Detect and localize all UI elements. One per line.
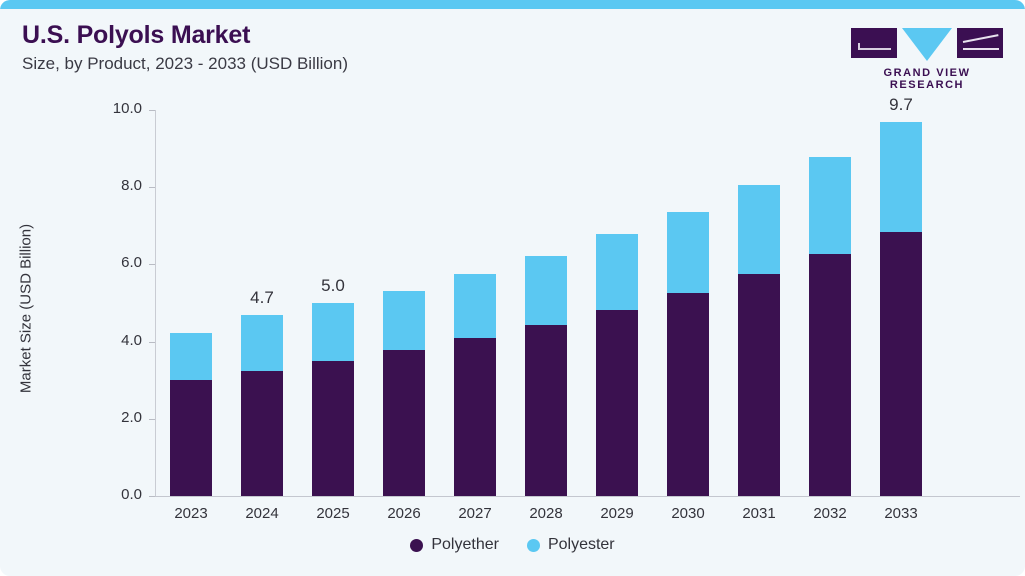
x-tick-label: 2023 <box>151 505 231 522</box>
bar-segment-polyether[interactable] <box>241 371 283 496</box>
chart-legend: PolyetherPolyester <box>0 536 1025 554</box>
x-tick-label: 2026 <box>364 505 444 522</box>
x-tick-label: 2032 <box>790 505 870 522</box>
y-axis-title: Market Size (USD Billion) <box>18 179 35 439</box>
bar-segment-polyester[interactable] <box>383 291 425 350</box>
legend-item-polyester[interactable]: Polyester <box>527 536 615 554</box>
y-tick-label: 8.0 <box>96 177 142 194</box>
bar-segment-polyether[interactable] <box>312 361 354 496</box>
bar-segment-polyester[interactable] <box>738 185 780 274</box>
bar-segment-polyester[interactable] <box>809 157 851 254</box>
bar-segment-polyester[interactable] <box>525 256 567 325</box>
bar-group[interactable] <box>170 333 212 496</box>
y-tick-label: 10.0 <box>96 100 142 117</box>
plot-area: Market Size (USD Billion) 0.02.04.06.08.… <box>0 0 1025 576</box>
bar-segment-polyether[interactable] <box>454 338 496 496</box>
x-tick-label: 2027 <box>435 505 515 522</box>
legend-swatch-icon <box>410 539 423 552</box>
x-tick-label: 2025 <box>293 505 373 522</box>
bar-segment-polyether[interactable] <box>170 380 212 496</box>
bar-value-label: 5.0 <box>293 276 373 296</box>
bar-segment-polyester[interactable] <box>596 234 638 310</box>
chart-card: U.S. Polyols Market Size, by Product, 20… <box>0 0 1025 576</box>
bar-value-label: 9.7 <box>861 95 941 115</box>
bar-value-label: 4.7 <box>222 288 302 308</box>
bar-group[interactable] <box>738 185 780 496</box>
bar-segment-polyester[interactable] <box>667 212 709 293</box>
x-tick-label: 2029 <box>577 505 657 522</box>
bar-segment-polyester[interactable] <box>880 122 922 232</box>
bar-group[interactable] <box>880 122 922 496</box>
bar-segment-polyether[interactable] <box>525 325 567 496</box>
legend-swatch-icon <box>527 539 540 552</box>
legend-item-polyether[interactable]: Polyether <box>410 536 499 554</box>
y-axis-line <box>155 110 156 496</box>
bar-segment-polyether[interactable] <box>383 350 425 496</box>
bar-segment-polyester[interactable] <box>241 315 283 371</box>
y-tick-label: 0.0 <box>96 486 142 503</box>
bar-segment-polyether[interactable] <box>667 293 709 496</box>
x-axis-line <box>155 496 1020 497</box>
y-tick-label: 6.0 <box>96 254 142 271</box>
bar-segment-polyester[interactable] <box>312 303 354 361</box>
bar-group[interactable] <box>241 315 283 496</box>
y-tick-label: 4.0 <box>96 332 142 349</box>
x-tick-label: 2030 <box>648 505 728 522</box>
bar-segment-polyether[interactable] <box>809 254 851 496</box>
legend-label: Polyether <box>431 536 499 554</box>
bar-group[interactable] <box>454 274 496 496</box>
bar-group[interactable] <box>312 303 354 496</box>
bar-group[interactable] <box>667 212 709 496</box>
legend-label: Polyester <box>548 536 615 554</box>
bar-segment-polyester[interactable] <box>170 333 212 380</box>
bar-segment-polyether[interactable] <box>596 310 638 496</box>
y-tick-label: 2.0 <box>96 409 142 426</box>
x-tick-label: 2028 <box>506 505 586 522</box>
bar-group[interactable] <box>596 234 638 496</box>
bar-segment-polyether[interactable] <box>880 232 922 496</box>
bar-group[interactable] <box>525 256 567 496</box>
bar-group[interactable] <box>809 157 851 496</box>
bar-segment-polyether[interactable] <box>738 274 780 496</box>
x-tick-label: 2033 <box>861 505 941 522</box>
bar-segment-polyester[interactable] <box>454 274 496 338</box>
x-tick-label: 2031 <box>719 505 799 522</box>
x-tick-label: 2024 <box>222 505 302 522</box>
bar-group[interactable] <box>383 291 425 496</box>
